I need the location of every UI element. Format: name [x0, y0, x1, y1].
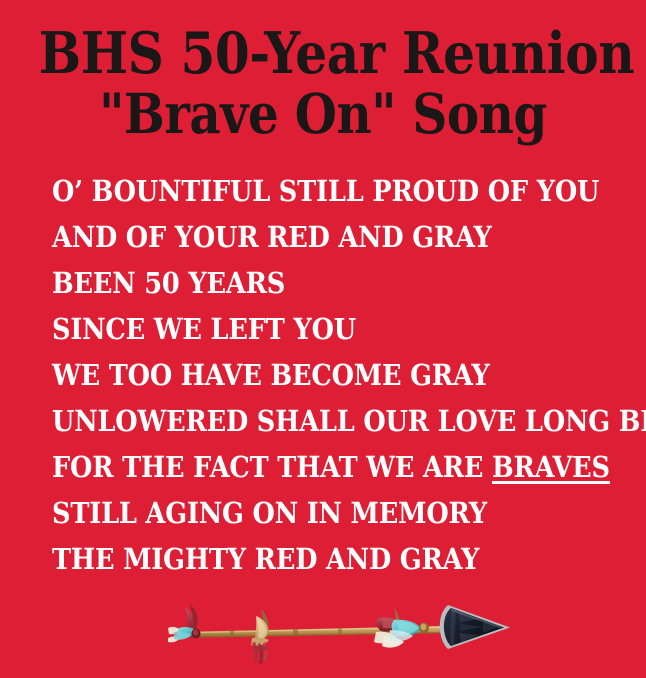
- lyric-line: O’ BOUNTIFUL STILL PROUD OF YOU: [52, 168, 565, 214]
- spear-arrowhead: [440, 605, 510, 649]
- title-line-secondary: "Brave On" Song: [39, 84, 607, 144]
- lyric-line: FOR THE FACT THAT WE ARE BRAVES: [52, 444, 565, 490]
- lyric-line: WE TOO HAVE BECOME GRAY: [52, 352, 565, 398]
- spear-graphic: [138, 588, 510, 668]
- lyric-line: UNLOWERED SHALL OUR LOVE LONG BE: [52, 398, 565, 444]
- lyric-line: SINCE WE LEFT YOU: [52, 306, 565, 352]
- lyric-line: AND OF YOUR RED AND GRAY: [52, 214, 565, 260]
- song-lyrics: O’ BOUNTIFUL STILL PROUD OF YOUAND OF YO…: [52, 168, 622, 582]
- spear-butt-feathers: [168, 604, 201, 642]
- lyric-line: THE MIGHTY RED AND GRAY: [52, 536, 565, 582]
- spear-middle-feather: [251, 610, 269, 664]
- lyric-line: BEEN 50 YEARS: [52, 260, 565, 306]
- native-american-spear-icon: [138, 588, 510, 668]
- title-line-primary: BHS 50-Year Reunion: [39, 24, 607, 84]
- poster-canvas: BHS 50-Year Reunion "Brave On" Song O’ B…: [0, 0, 646, 678]
- spear-head-feathers: [374, 608, 429, 648]
- poster-title: BHS 50-Year Reunion "Brave On" Song: [0, 24, 646, 144]
- lyric-line: STILL AGING ON IN MEMORY: [52, 490, 565, 536]
- lyric-emphasis: BRAVES: [492, 450, 610, 484]
